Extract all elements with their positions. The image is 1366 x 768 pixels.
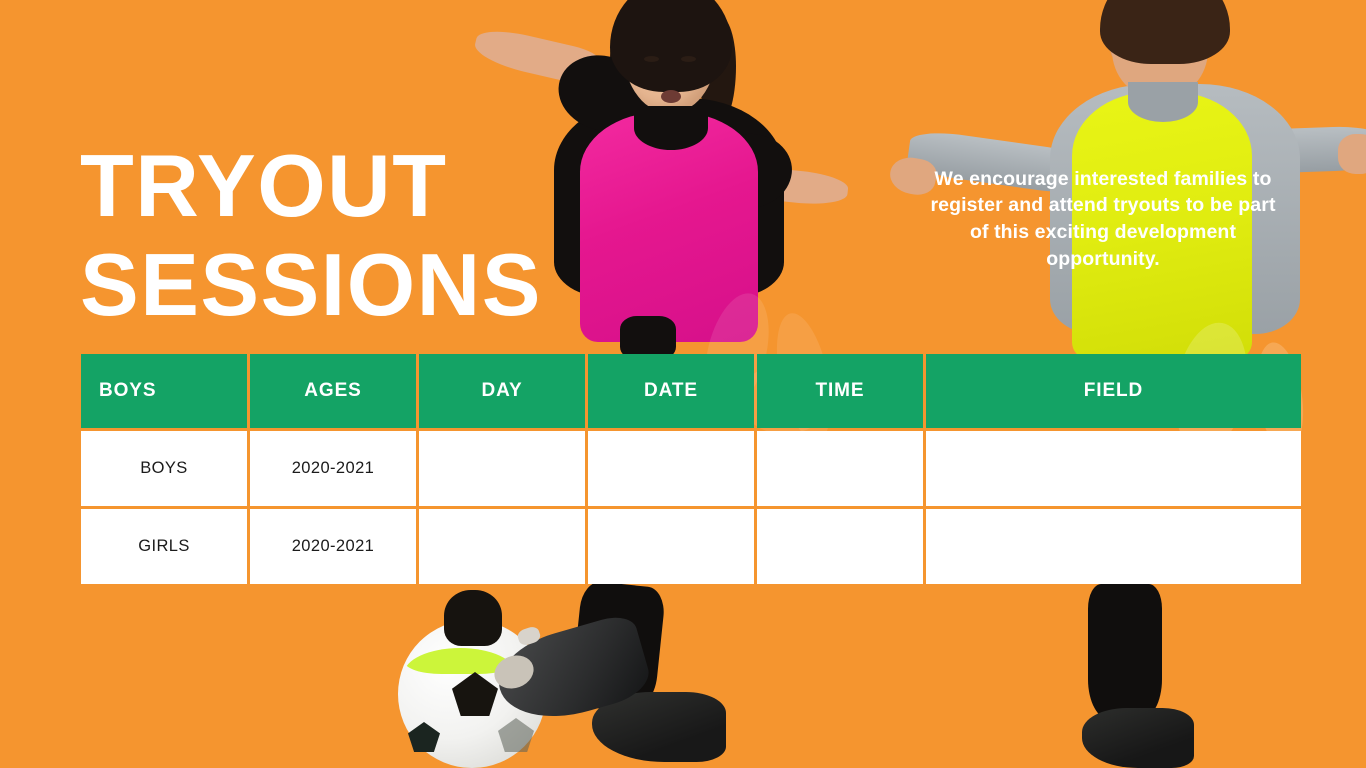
boy-right-hand (1338, 134, 1366, 174)
table-body: BOYS 2020-2021 GIRLS 2020-2021 (81, 431, 1301, 584)
girl-hair-left (610, 22, 638, 114)
kicking-shoe-toe (490, 650, 539, 694)
girl-left-eye (644, 56, 659, 62)
center-leg (570, 580, 667, 714)
column-header-field: FIELD (926, 354, 1301, 428)
girl-hair (610, 0, 732, 92)
soccer-ball (398, 620, 546, 768)
kicking-shoe (489, 611, 654, 733)
cell-day[interactable] (419, 509, 585, 584)
center-shoe (592, 692, 726, 762)
cell-category[interactable]: GIRLS (81, 509, 247, 584)
cell-field[interactable] (926, 431, 1301, 506)
cell-date[interactable] (588, 431, 754, 506)
page-title: TRYOUT SESSIONS (80, 137, 640, 334)
cell-date[interactable] (588, 509, 754, 584)
column-header-time: TIME (757, 354, 923, 428)
table-row: BOYS 2020-2021 (81, 431, 1301, 506)
girl-right-eye (681, 56, 696, 62)
girl-right-sleeve (702, 130, 795, 213)
slide-canvas: TRYOUT SESSIONS We encourage interested … (0, 0, 1366, 768)
girl-head (622, 0, 718, 112)
column-header-ages: AGES (250, 354, 416, 428)
cell-category[interactable]: BOYS (81, 431, 247, 506)
table-row: GIRLS 2020-2021 (81, 509, 1301, 584)
soccer-ball-pentagon (408, 722, 440, 752)
boy-ear (1110, 34, 1132, 62)
page-title-line-2: SESSIONS (80, 236, 640, 335)
cell-day[interactable] (419, 431, 585, 506)
girl-mouth (661, 90, 681, 103)
right-leg (1088, 584, 1162, 720)
cell-field[interactable] (926, 509, 1301, 584)
soccer-ball-green-patch (404, 622, 516, 674)
table-header-row: BOYS AGES DAY DATE TIME FIELD (81, 354, 1301, 428)
girl-right-arm (731, 164, 850, 208)
tryout-schedule-table: BOYS AGES DAY DATE TIME FIELD BOYS 2020-… (78, 351, 1304, 587)
girl-left-arm (472, 25, 601, 88)
cell-ages[interactable]: 2020-2021 (250, 431, 416, 506)
page-title-line-1: TRYOUT (80, 137, 640, 236)
intro-paragraph: We encourage interested families to regi… (920, 166, 1286, 274)
boy-hair (1100, 0, 1230, 64)
cell-ages[interactable]: 2020-2021 (250, 509, 416, 584)
right-shoe (1082, 708, 1194, 768)
soccer-ball-pentagon (498, 718, 534, 752)
column-header-day: DAY (419, 354, 585, 428)
soccer-ball-pentagon (452, 672, 498, 716)
column-header-category: BOYS (81, 354, 247, 428)
girl-left-sleeve (550, 45, 657, 141)
table-header: BOYS AGES DAY DATE TIME FIELD (81, 354, 1301, 428)
kicking-sock (444, 590, 502, 646)
column-header-date: DATE (588, 354, 754, 428)
boy-head (1112, 0, 1208, 98)
kicking-shoe-stripe (516, 625, 542, 647)
cell-time[interactable] (757, 509, 923, 584)
cell-time[interactable] (757, 431, 923, 506)
girl-hair-right (700, 16, 736, 128)
